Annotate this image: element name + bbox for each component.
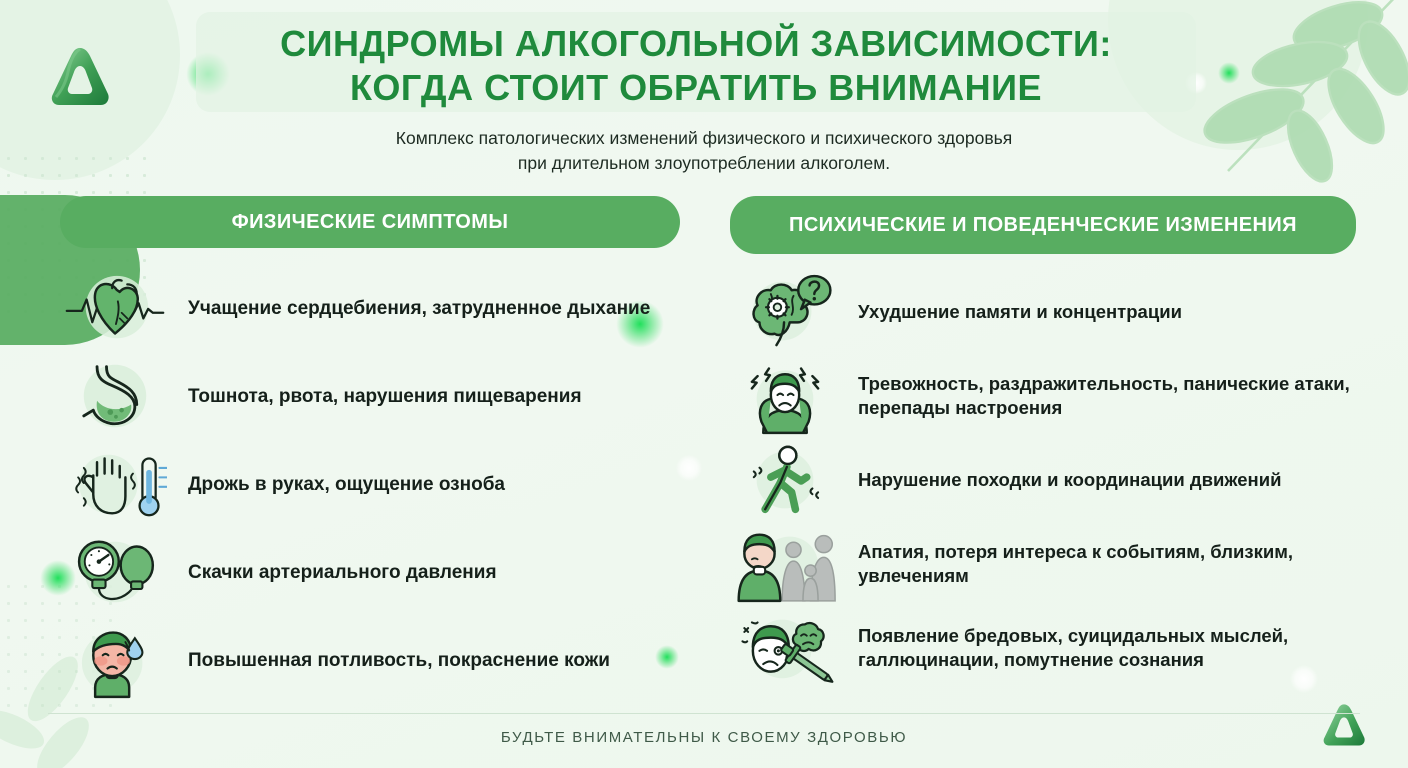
list-item: Апатия, потеря интереса к событиям, близ… bbox=[730, 522, 1356, 606]
list-item-label: Тревожность, раздражительность, паническ… bbox=[858, 372, 1356, 420]
footer-divider bbox=[48, 713, 1360, 714]
list-item: Повышенная потливость, покраснение кожи bbox=[60, 616, 680, 704]
list-item-label: Тошнота, рвота, нарушения пищеварения bbox=[188, 384, 582, 409]
heart-ecg-icon bbox=[60, 267, 170, 349]
page-subtitle: Комплекс патологических изменений физиче… bbox=[204, 126, 1204, 176]
list-item: Тревожность, раздражительность, паническ… bbox=[730, 354, 1356, 438]
thermometer-sub-icon bbox=[140, 458, 167, 515]
physical-symptoms-column: ФИЗИЧЕСКИЕ СИМПТОМЫ Учащение сердц bbox=[60, 196, 680, 704]
list-item-label: Появление бредовых, суицидальных мыслей,… bbox=[858, 624, 1356, 672]
sweating-face-icon bbox=[60, 619, 170, 701]
list-item: Появление бредовых, суицидальных мыслей,… bbox=[730, 606, 1356, 690]
page-title: СИНДРОМЫ АЛКОГОЛЬНОЙ ЗАВИСИМОСТИ: КОГДА … bbox=[196, 22, 1196, 110]
delusional-face-sword-icon bbox=[730, 607, 840, 689]
blood-pressure-gauge-icon bbox=[60, 531, 170, 613]
trembling-hand-thermometer-icon bbox=[60, 443, 170, 525]
footer-message: БУДЬТЕ ВНИМАТЕЛЬНЫ К СВОЕМУ ЗДОРОВЬЮ bbox=[0, 729, 1408, 746]
physical-symptoms-heading: ФИЗИЧЕСКИЕ СИМПТОМЫ bbox=[60, 196, 680, 248]
walking-person-icon bbox=[730, 439, 840, 521]
page-subtitle-line-2: при длительном злоупотреблении алкоголем… bbox=[204, 151, 1204, 176]
list-item-label: Апатия, потеря интереса к событиям, близ… bbox=[858, 540, 1356, 588]
list-item: Тошнота, рвота, нарушения пищеварения bbox=[60, 352, 680, 440]
psychological-changes-column: ПСИХИЧЕСКИЕ И ПОВЕДЕНЧЕСКИЕ ИЗМЕНЕНИЯ bbox=[730, 196, 1356, 690]
page-title-line-2: КОГДА СТОИТ ОБРАТИТЬ ВНИМАНИЕ bbox=[196, 66, 1196, 110]
list-item: Нарушение походки и координации движений bbox=[730, 438, 1356, 522]
list-item: Скачки артериального давления bbox=[60, 528, 680, 616]
list-item: Дрожь в руках, ощущение озноба bbox=[60, 440, 680, 528]
list-item-label: Учащение сердцебиения, затрудненное дыха… bbox=[188, 296, 650, 321]
isolated-person-family-icon bbox=[730, 523, 840, 605]
stressed-person-icon bbox=[730, 355, 840, 437]
list-item-label: Нарушение походки и координации движений bbox=[858, 468, 1281, 492]
list-item-label: Скачки артериального давления bbox=[188, 560, 497, 585]
stomach-icon bbox=[60, 355, 170, 437]
list-item-label: Повышенная потливость, покраснение кожи bbox=[188, 648, 610, 673]
page-title-line-1: СИНДРОМЫ АЛКОГОЛЬНОЙ ЗАВИСИМОСТИ: bbox=[196, 22, 1196, 66]
leaf-branch-icon bbox=[1188, 0, 1408, 196]
psychological-changes-list: Ухудшение памяти и концентрации bbox=[730, 270, 1356, 690]
physical-symptoms-list: Учащение сердцебиения, затрудненное дыха… bbox=[60, 264, 680, 704]
psychological-changes-heading: ПСИХИЧЕСКИЕ И ПОВЕДЕНЧЕСКИЕ ИЗМЕНЕНИЯ bbox=[730, 196, 1356, 254]
triangle-trinity-logo bbox=[44, 42, 116, 114]
list-item-label: Дрожь в руках, ощущение озноба bbox=[188, 472, 505, 497]
page-subtitle-line-1: Комплекс патологических изменений физиче… bbox=[204, 126, 1204, 151]
list-item-label: Ухудшение памяти и концентрации bbox=[858, 300, 1182, 324]
list-item: Ухудшение памяти и концентрации bbox=[730, 270, 1356, 354]
infographic-poster: СИНДРОМЫ АЛКОГОЛЬНОЙ ЗАВИСИМОСТИ: КОГДА … bbox=[0, 0, 1408, 768]
list-item: Учащение сердцебиения, затрудненное дыха… bbox=[60, 264, 680, 352]
brain-gear-question-icon bbox=[730, 271, 840, 353]
